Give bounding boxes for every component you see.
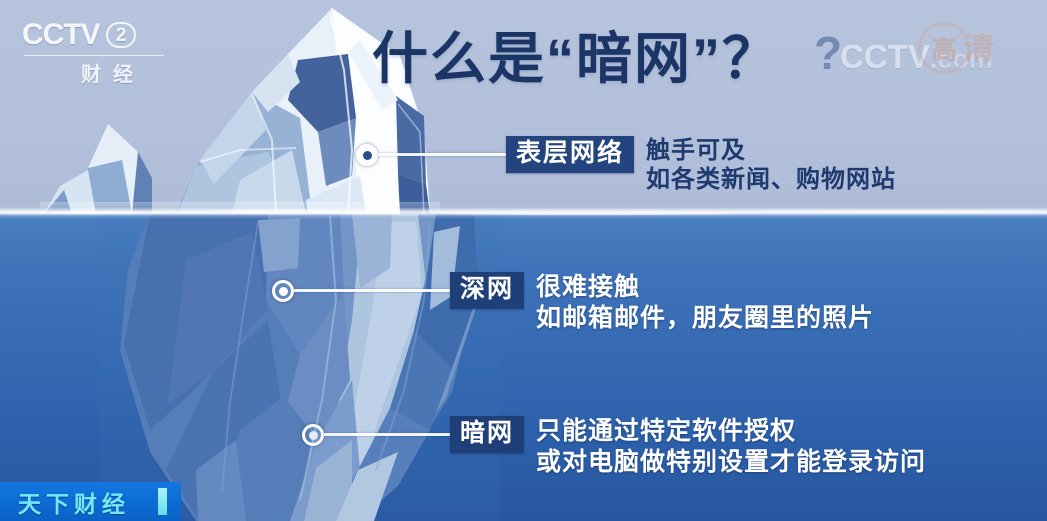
annotation-chip-deep-web: 深网: [450, 272, 524, 309]
iceberg-below-water: [100, 214, 500, 521]
annotation-text-deep-web: 很难接触 如邮箱邮件，朋友圈里的照片: [536, 272, 874, 333]
leader-line-dark-web: [324, 433, 450, 436]
annotation-chip-surface-web: 表层网络: [506, 136, 634, 173]
annotation-chip-dark-web: 暗网: [450, 416, 524, 453]
marker-dark-web: [302, 424, 324, 446]
channel-number-badge: 2: [106, 22, 136, 48]
annotation-line-2: 或对电脑做特别设置才能登录访问: [536, 447, 926, 478]
annotation-text-surface-web: 触手可及 如各类新闻、购物网站: [646, 136, 896, 195]
program-banner: 天下财经: [0, 482, 181, 521]
annotation-line-1: 触手可及: [646, 136, 896, 165]
program-banner-label: 天下财经: [18, 485, 130, 519]
cctv-com-watermark: ? CCTV.com 高 清: [814, 22, 1039, 78]
cctv-channel-logo: CCTV 2 财经: [22, 18, 192, 86]
marker-deep-web: [272, 280, 294, 302]
page-title: 什么是“暗网”？: [372, 14, 780, 95]
banner-accent-bar: [158, 488, 167, 515]
leader-line-deep-web: [294, 289, 450, 292]
leader-line-surface-web: [378, 153, 506, 156]
annotation-line-1: 只能通过特定软件授权: [536, 416, 926, 447]
hd-badge-icon: 高: [918, 22, 970, 74]
broadcast-frame: CCTV 2 财经 ? CCTV.com 高 清 什么是“暗网”？ 表层网络 触…: [0, 0, 1047, 521]
wave-highlight: [6, 211, 176, 214]
marker-core: [363, 151, 372, 160]
watermark-cctv-text: CCTV: [840, 38, 930, 75]
wave-highlight: [440, 212, 730, 215]
logo-divider: [24, 55, 164, 56]
annotation-text-dark-web: 只能通过特定软件授权 或对电脑做特别设置才能登录访问: [536, 416, 926, 477]
marker-core: [309, 431, 318, 440]
question-mark-glyph: ?: [814, 26, 842, 80]
marker-surface-web: [356, 144, 378, 166]
annotation-line-2: 如邮箱邮件，朋友圈里的照片: [536, 303, 874, 334]
hd-badge-second-glyph: 清: [964, 24, 994, 68]
annotation-deep-web: 深网 很难接触 如邮箱邮件，朋友圈里的照片: [450, 272, 874, 333]
cctv-wordmark: CCTV 2: [22, 18, 192, 52]
annotation-surface-web: 表层网络 触手可及 如各类新闻、购物网站: [506, 136, 896, 195]
wave-highlight: [210, 209, 330, 212]
annotation-dark-web: 暗网 只能通过特定软件授权 或对电脑做特别设置才能登录访问: [450, 416, 926, 477]
cctv-logo-text: CCTV: [22, 18, 100, 52]
annotation-line-2: 如各类新闻、购物网站: [646, 165, 896, 194]
wave-highlight: [760, 210, 1040, 213]
annotation-line-1: 很难接触: [536, 272, 874, 303]
marker-core: [279, 287, 288, 296]
channel-name-label: 财经: [22, 58, 192, 87]
